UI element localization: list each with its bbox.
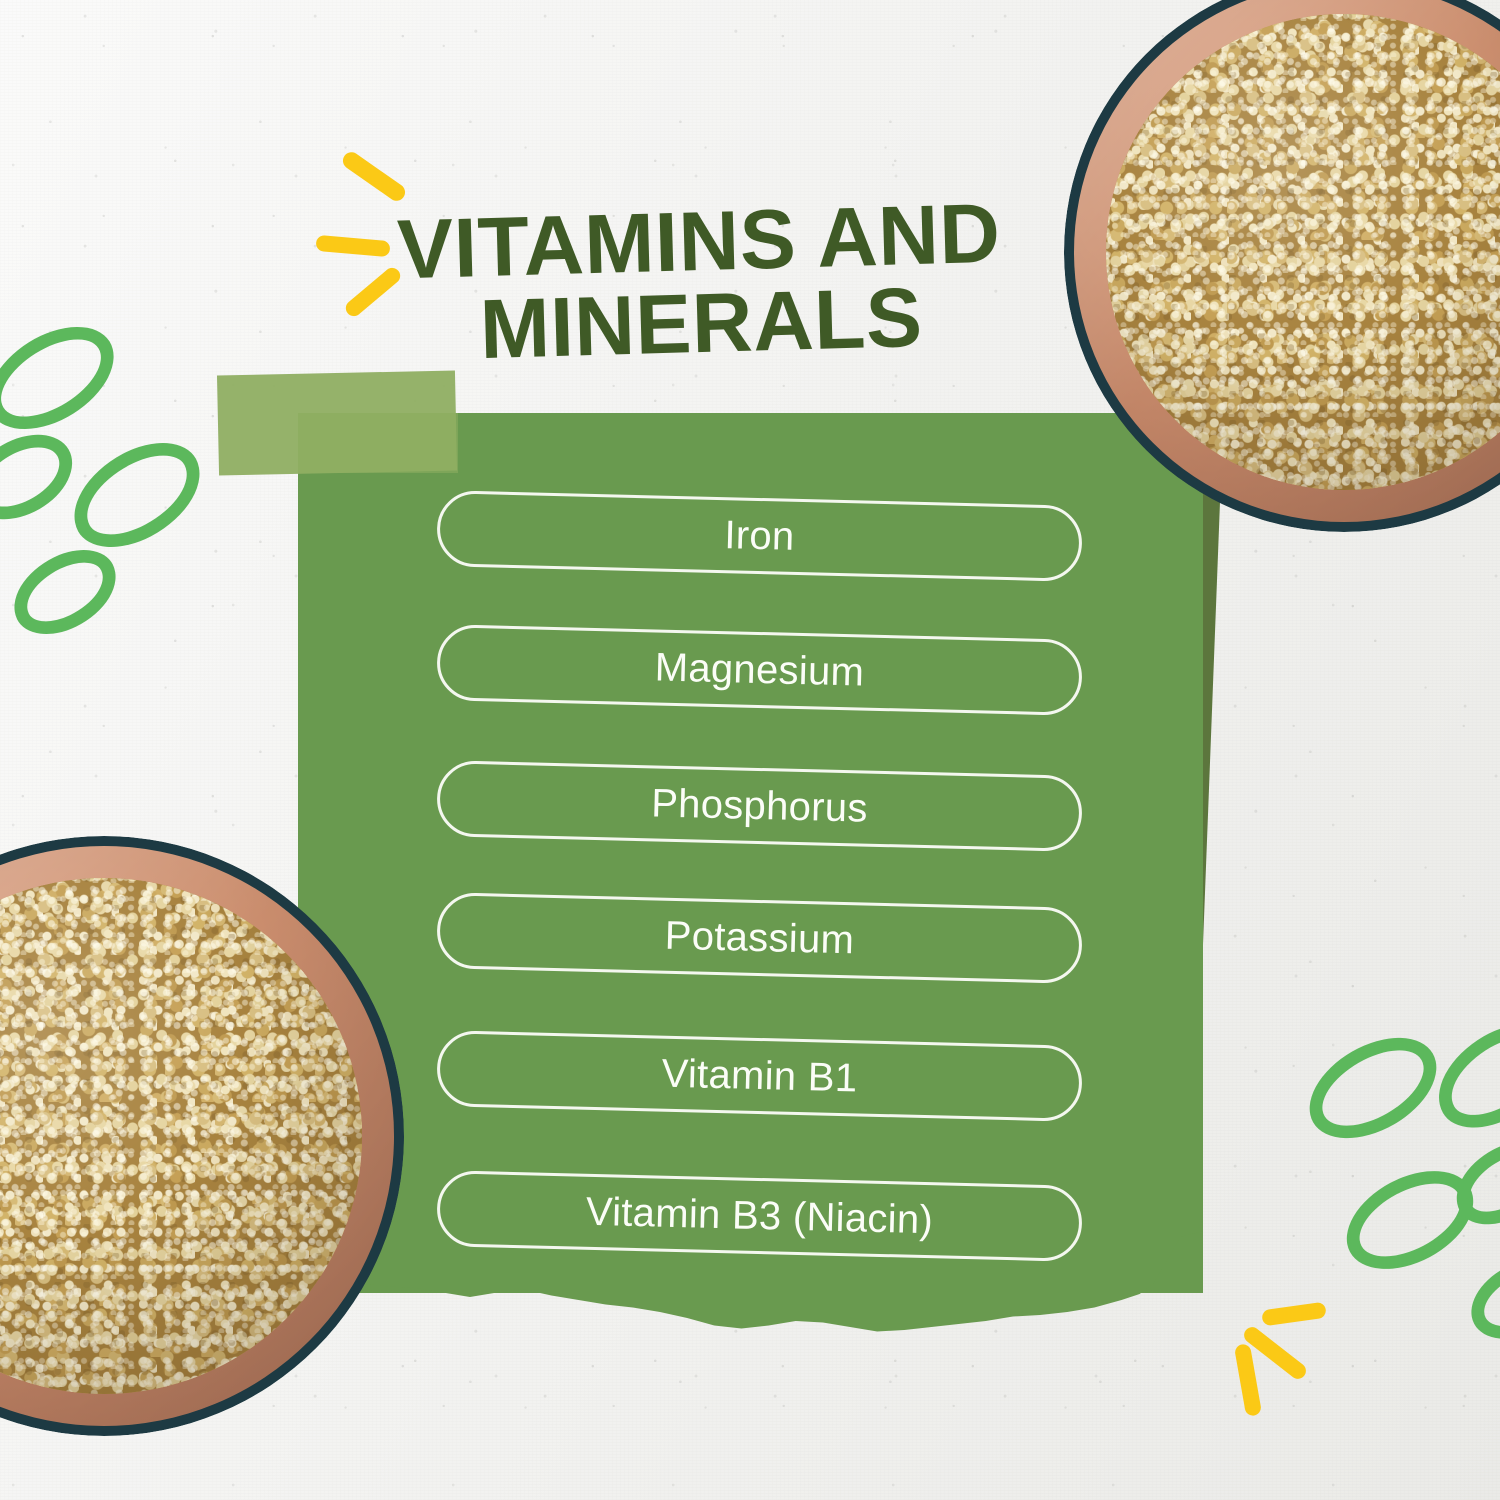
list-item[interactable]: Iron <box>436 490 1083 582</box>
nutrient-label: Iron <box>724 513 795 560</box>
nutrient-label: Magnesium <box>654 645 865 695</box>
nutrient-label: Phosphorus <box>651 781 869 831</box>
bowl-contents <box>0 878 362 1394</box>
list-item[interactable]: Potassium <box>436 892 1083 984</box>
list-item[interactable]: Magnesium <box>436 624 1083 716</box>
millet-bowl-bottom-left-image <box>0 836 404 1436</box>
nutrient-label: Potassium <box>664 913 854 963</box>
infographic-canvas: VITAMINS AND MINERALS Iron Magnesium Pho… <box>0 0 1500 1500</box>
list-item[interactable]: Vitamin B1 <box>436 1030 1083 1122</box>
list-item[interactable]: Vitamin B3 (Niacin) <box>436 1170 1083 1262</box>
nutrient-label: Vitamin B3 (Niacin) <box>585 1189 933 1242</box>
bowl-contents <box>1106 14 1500 490</box>
millet-bowl-top-right-image <box>1064 0 1500 532</box>
list-item[interactable]: Phosphorus <box>436 760 1083 852</box>
nutrient-label: Vitamin B1 <box>661 1051 858 1101</box>
